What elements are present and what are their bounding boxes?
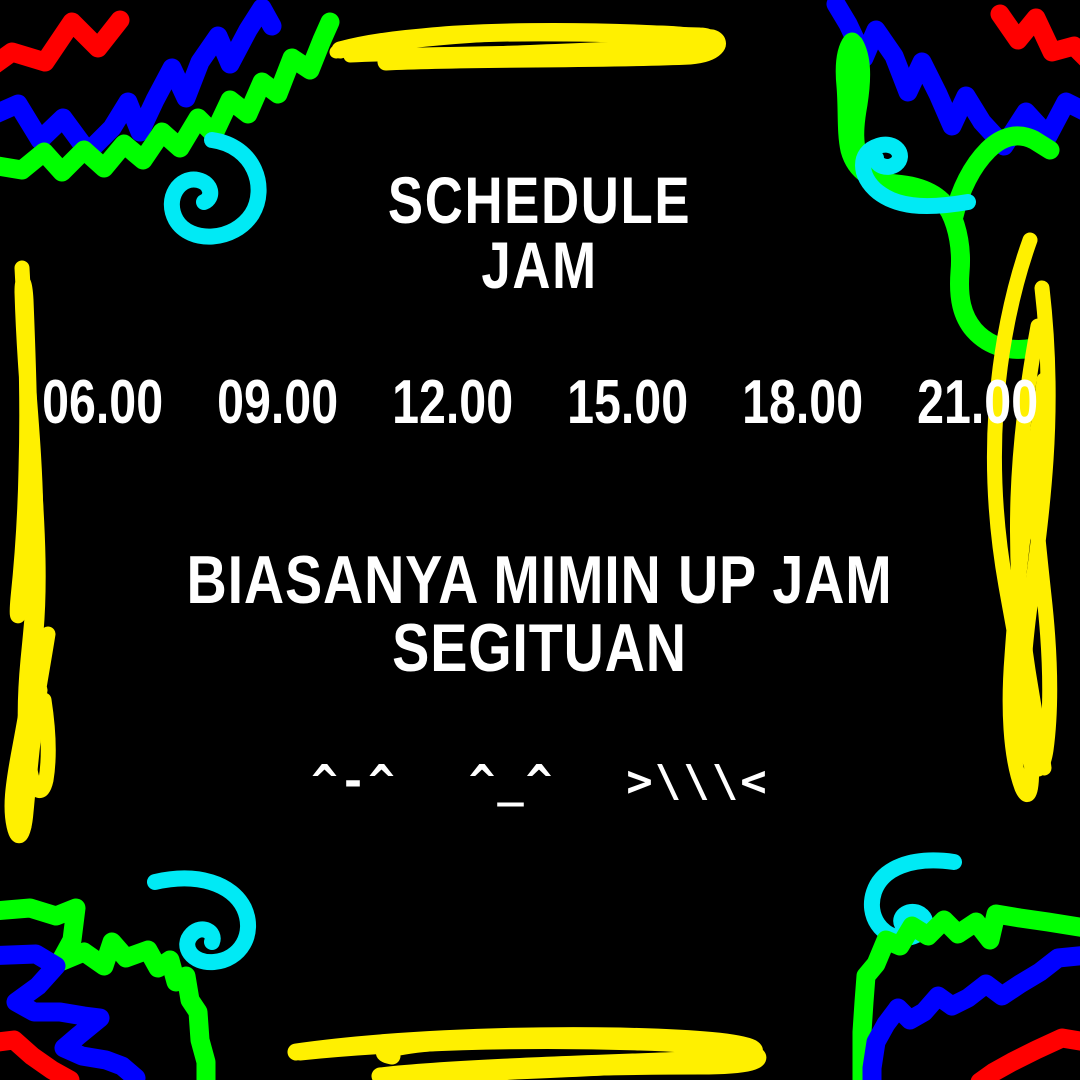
emoticon-row: ^-^ ^_^ >\\\<	[311, 756, 768, 807]
message-line-1: BIASANYA MIMIN UP JAM	[187, 546, 893, 614]
title-line-schedule: SCHEDULE	[388, 168, 691, 233]
time-slot-3: 12.00	[392, 367, 513, 438]
time-slot-6: 21.00	[917, 367, 1038, 438]
emoticon-2: ^_^	[469, 756, 554, 807]
emoticon-3: >\\\<	[626, 756, 768, 807]
schedule-poster: SCHEDULE JAM 06.00 09.00 12.00 15.00 18.…	[0, 0, 1080, 1080]
poster-title: SCHEDULE JAM	[350, 168, 729, 297]
time-slot-5: 18.00	[742, 367, 863, 438]
time-slot-2: 09.00	[217, 367, 338, 438]
poster-message: BIASANYA MIMIN UP JAM SEGITUAN	[109, 546, 970, 682]
poster-content: SCHEDULE JAM 06.00 09.00 12.00 15.00 18.…	[0, 0, 1080, 1080]
time-slot-1: 06.00	[42, 367, 163, 438]
title-line-jam: JAM	[388, 233, 691, 298]
time-slot-4: 15.00	[567, 367, 688, 438]
message-line-2: SEGITUAN	[187, 614, 893, 682]
emoticon-1: ^-^	[311, 756, 396, 807]
schedule-times-row: 06.00 09.00 12.00 15.00 18.00 21.00	[25, 367, 1056, 438]
